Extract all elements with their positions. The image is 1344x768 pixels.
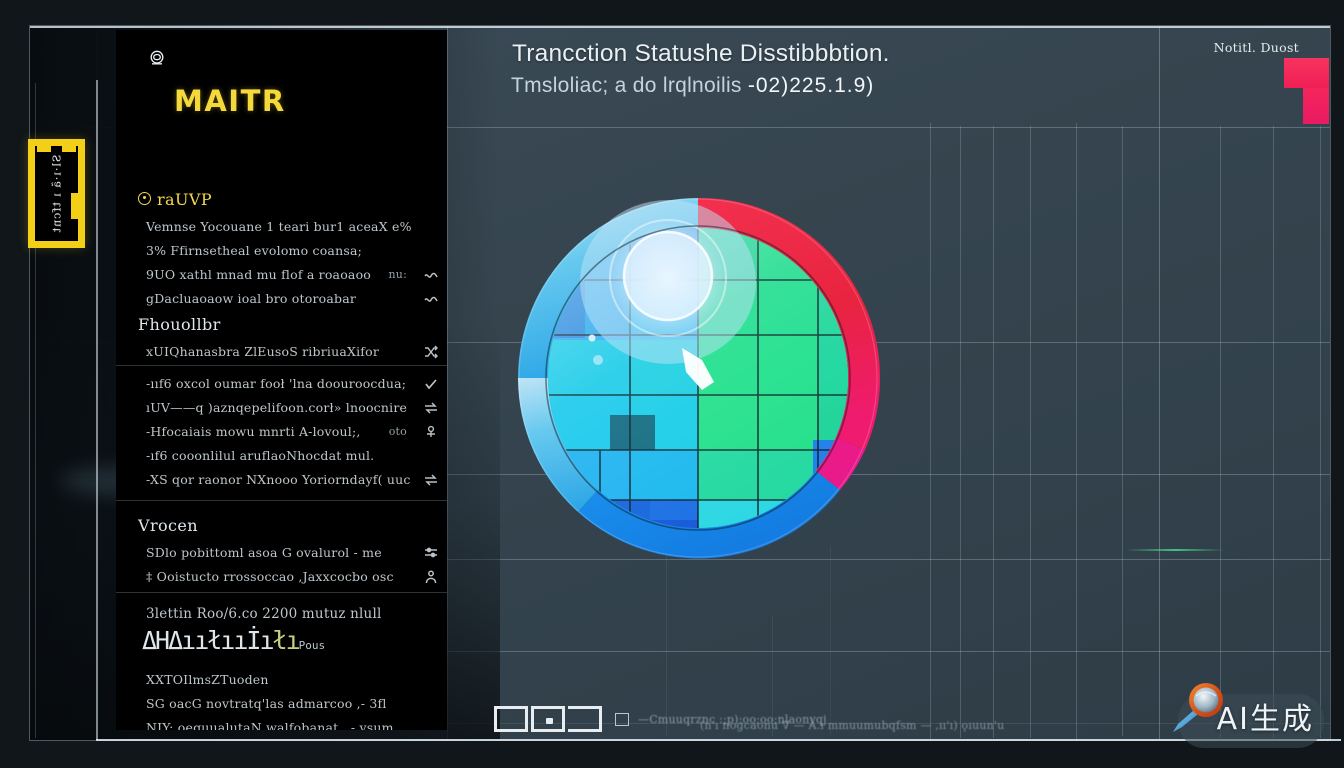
- legend-swatch-box-open[interactable]: [568, 706, 602, 732]
- wave-icon[interactable]: [423, 291, 439, 307]
- frame-top-rule: [30, 26, 1330, 28]
- list-item-label: ıUV——q )aznqepelifoon.corł» lnoocnire: [146, 400, 407, 415]
- list-item[interactable]: -ıf6 cooonlilul aruflaoNhocdat mul.: [116, 444, 447, 468]
- slider-icon[interactable]: [423, 545, 439, 561]
- bullet-icon: [138, 192, 151, 205]
- list-item[interactable]: xUIQhanasbra ZlEusoS ribriuaXifor: [116, 340, 447, 364]
- sidebar-content: MAITR raUVP Vemnse Yocouane 1 teari bur1…: [116, 30, 447, 730]
- check-icon[interactable]: [423, 376, 439, 392]
- swap-icon[interactable]: [423, 400, 439, 416]
- list-item-label: 9UO xathl mnad mu flof a roaoaoo: [146, 267, 371, 282]
- pie-chart[interactable]: [470, 160, 930, 600]
- list-item[interactable]: -XS qor raonor NXnooo Yoriorndayf( uuc: [116, 468, 447, 492]
- sidebar-section-title: Fhouollbr: [116, 315, 447, 334]
- block-glyphs: ΔHΔııłııİı: [142, 626, 273, 655]
- list-item-label: XXTOIlmsZTuoden: [146, 672, 269, 687]
- sidebar-section-group: Vrocen SDlo pobittoml asoa G ovalurol - …: [116, 516, 447, 589]
- list-item-label: xUIQhanasbra ZlEusoS ribriuaXifor: [146, 344, 379, 359]
- ai-watermark: AI生成: [1164, 672, 1332, 760]
- tag-corner: [71, 193, 80, 219]
- list-item[interactable]: 3lettin Roo/6.co 2200 mutuz nlull: [116, 602, 447, 626]
- block-glyph-row: ΔHΔııłııİıłıPous: [142, 626, 325, 655]
- list-item-label: gDacluaoaow ioal bro otoroabar: [146, 291, 356, 306]
- sidebar-section-title: raUVP: [116, 190, 447, 209]
- block-glyphs-tail: Pous: [299, 639, 326, 652]
- sidebar-section-group: XXTOIlmsZTuoden SG oacG novtratq'las adm…: [116, 668, 447, 730]
- list-item[interactable]: XXTOIlmsZTuoden: [116, 668, 447, 692]
- list-item[interactable]: ıUV——q )aznqepelifoon.corł» lnoocnire: [116, 396, 447, 420]
- list-item-label: ‡ Ooistucto rrossoccao ,Jaxxcocbo osc: [146, 569, 394, 584]
- wave-icon[interactable]: [423, 267, 439, 283]
- list-item[interactable]: 9UO xathl mnad mu flof a roaoaoo nu:: [116, 263, 447, 287]
- subtitle-prefix: Tmsloliac; a do lrqlnoilis: [511, 74, 742, 97]
- list-item[interactable]: SDlo pobittoml asoa G ovalurol - me: [116, 541, 447, 565]
- list-item-label: SG oacG novtratq'las admarcoo ,- 3fl: [146, 696, 387, 711]
- page-title: Trancction Statushe Disstibbbtion.: [512, 40, 890, 68]
- legend-swatch-box-dot[interactable]: [531, 706, 565, 732]
- brand-title: MAITR: [174, 84, 286, 118]
- page-subtitle: Tmsloliac; a do lrqlnoilis -02)225.1.9): [511, 74, 874, 98]
- frame-bottom-rule: [96, 739, 1341, 741]
- legend-label-secondary: (n'ı nogcaonu ∇ — À.ı mmuumubqfsm — ,ıı'…: [700, 719, 1004, 732]
- screenshot-canvas: Trancction Statushe Disstibbbtion. Tmslo…: [0, 0, 1344, 768]
- list-item-label: -Hfocaiais mowu mnrti A-lovoul;,: [146, 424, 361, 439]
- left-yellow-tag-label: Sl·ı·ã ı tfcnt: [50, 154, 63, 233]
- badge-logo-icon: [147, 48, 167, 68]
- list-item-tail: oto: [389, 420, 407, 444]
- person-icon[interactable]: [423, 569, 439, 585]
- tag-corner: [37, 144, 51, 152]
- sidebar-section-group: 3lettin Roo/6.co 2200 mutuz nlull: [116, 602, 447, 626]
- list-item[interactable]: NIY: oeguualutaN walfobanat.. - vsum: [116, 716, 447, 730]
- subtitle-number: -02)225.1.9): [748, 74, 874, 97]
- list-item[interactable]: 3% Ffirnsetheal evolomo coansa;: [116, 239, 447, 263]
- shuffle-icon[interactable]: [423, 344, 439, 360]
- sidebar-section-group: Fhouollbr xUIQhanasbra ZlEusoS ribriuaXi…: [116, 315, 447, 364]
- list-item-label: -ııf6 oxcol oumar fooł 'lna doouroocdua;: [146, 376, 406, 391]
- node-icon[interactable]: [423, 424, 439, 440]
- tag-corner: [62, 144, 76, 152]
- list-item-tail: nu:: [389, 263, 407, 287]
- legend-swatch-box[interactable]: [494, 706, 528, 732]
- list-item[interactable]: ‡ Ooistucto rrossoccao ,Jaxxcocbo osc: [116, 565, 447, 589]
- sidebar-section-title: Vrocen: [116, 516, 447, 535]
- list-item-label: Vemnse Yocouane 1 teari bur1 aceaX e%: [146, 219, 412, 234]
- list-item-label: NIY: oeguualutaN walfobanat.. - vsum: [146, 720, 394, 730]
- block-glyphs-highlight: łı: [273, 626, 299, 655]
- list-item-label: -ıf6 cooonlilul aruflaoNhocdat mul.: [146, 448, 374, 463]
- divider: [116, 592, 447, 593]
- brand-row: [134, 38, 434, 86]
- list-item-label: 3lettin Roo/6.co 2200 mutuz nlull: [146, 606, 382, 622]
- left-yellow-tag[interactable]: Sl·ı·ã ı tfcnt: [28, 139, 85, 248]
- list-item[interactable]: -Hfocaiais mowu mnrti A-lovoul;, oto: [116, 420, 447, 444]
- divider: [116, 500, 447, 501]
- list-item[interactable]: -ııf6 oxcol oumar fooł 'lna doouroocdua;: [116, 372, 447, 396]
- top-right-block-shape: [1263, 58, 1329, 124]
- sidebar-section-group: -ııf6 oxcol oumar fooł 'lna doouroocdua;…: [116, 372, 447, 492]
- sidebar-section-group: raUVP Vemnse Yocouane 1 teari bur1 aceaX…: [116, 190, 447, 311]
- sidebar-panel: MAITR raUVP Vemnse Yocouane 1 teari bur1…: [116, 30, 447, 730]
- pie-chart-svg: [470, 160, 930, 600]
- list-item[interactable]: SG oacG novtratq'las admarcoo ,- 3fl: [116, 692, 447, 716]
- list-item[interactable]: gDacluaoaow ioal bro otoroabar: [116, 287, 447, 311]
- watermark-label: AI生成: [1217, 694, 1314, 738]
- divider: [116, 365, 447, 366]
- list-item[interactable]: Vemnse Yocouane 1 teari bur1 aceaX e%: [116, 215, 447, 239]
- list-item-label: -XS qor raonor NXnooo Yoriorndayf( uuc: [146, 472, 411, 487]
- swap-icon[interactable]: [423, 472, 439, 488]
- frame-left-axis: [96, 80, 98, 740]
- list-item-label: SDlo pobittoml asoa G ovalurol - me: [146, 545, 382, 560]
- list-item-label: 3% Ffirnsetheal evolomo coansa;: [146, 243, 362, 258]
- mini-box-icon[interactable]: [615, 713, 629, 726]
- top-right-label: Notitl. Duost: [1214, 40, 1299, 55]
